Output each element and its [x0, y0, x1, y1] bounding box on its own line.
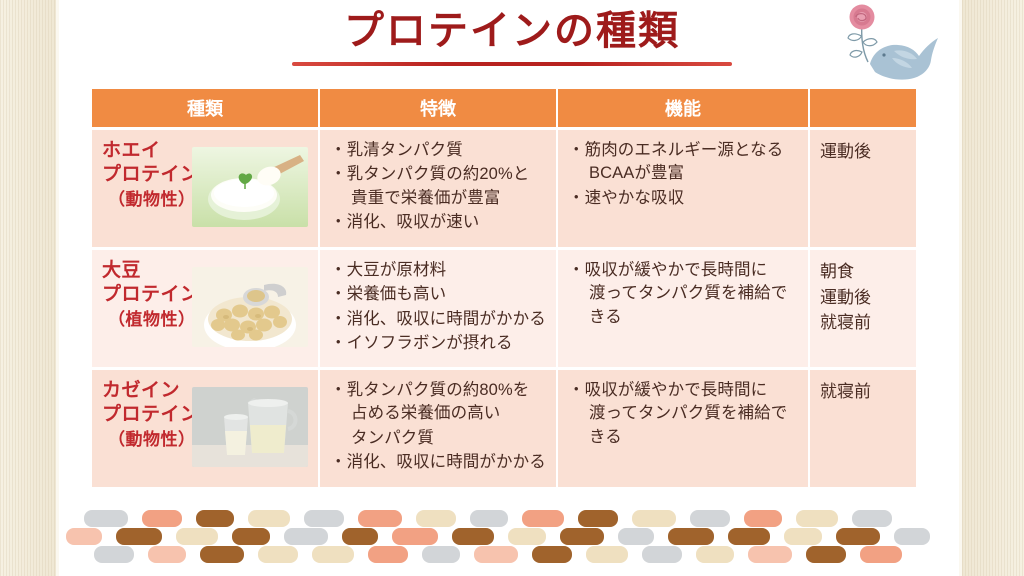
milk-pitcher-photo: [192, 387, 308, 467]
decorative-pill: [852, 510, 892, 527]
decorative-pill: [474, 546, 518, 563]
list-item: ・栄養価も高い: [330, 283, 548, 306]
decorative-pill: [196, 510, 234, 527]
decorative-pill: [232, 528, 270, 545]
decorative-pill: [116, 528, 162, 545]
list-item: ・乳清タンパク質: [330, 139, 548, 162]
decorative-pill: [586, 546, 628, 563]
list-item: ・消化、吸収が速い: [330, 211, 548, 234]
decorative-pill: [416, 510, 456, 527]
feature-text: ・消化、吸収に時間がかかる: [330, 453, 546, 471]
decorative-pill: [560, 528, 604, 545]
yogurt-bowl-photo: [192, 147, 308, 227]
cell-functions: ・筋肉のエネルギー源となるBCAAが豊富 ・速やかな吸収: [558, 127, 810, 247]
decorative-pill: [748, 546, 792, 563]
decorative-pill: [358, 510, 402, 527]
decorative-pill: [668, 528, 714, 545]
right-border-texture: [962, 0, 1024, 576]
table-header-row: 種類 特徴 機能: [92, 89, 916, 127]
decorative-pill: [248, 510, 290, 527]
cell-type: カゼイン プロテイン （動物性）: [92, 367, 320, 487]
decorative-pill: [470, 510, 508, 527]
list-item: ・消化、吸収に時間がかかる: [330, 451, 548, 474]
cell-features: ・大豆が原材料 ・栄養価も高い ・消化、吸収に時間がかかる ・イソフラボンが摂れ…: [320, 247, 558, 367]
page-title: プロテインの種類: [276, 6, 748, 56]
decorative-pill: [258, 546, 298, 563]
decorative-pill: [304, 510, 344, 527]
decorative-pill: [368, 546, 408, 563]
decorative-pill: [642, 546, 682, 563]
feature-text: ・乳清タンパク質: [330, 141, 463, 159]
decorative-pill: [148, 546, 186, 563]
decorative-pill: [690, 510, 730, 527]
feature-text: タンパク質: [351, 429, 434, 447]
decorative-pill: [836, 528, 880, 545]
feature-text-cont: 占める栄養価の高い: [341, 402, 548, 425]
timing-item: 就寝前: [820, 379, 908, 405]
table-row: ホエイ プロテイン （動物性）: [92, 127, 916, 247]
timing-item: 朝食: [820, 259, 908, 285]
function-text: ・筋肉のエネルギー源となる: [568, 141, 783, 159]
decorative-pill: [796, 510, 838, 527]
timing-item: 運動後: [820, 139, 908, 165]
slide-canvas: プロテインの種類 種類 特徴 機能: [0, 0, 1024, 576]
decorative-pill: [522, 510, 564, 527]
decorative-pill: [94, 546, 134, 563]
cell-timing: 運動後: [810, 127, 916, 247]
decorative-pill: [392, 528, 438, 545]
timing-item: 就寝前: [820, 310, 908, 336]
decorative-pill: [422, 546, 460, 563]
column-header-type: 種類: [92, 89, 320, 127]
title-underline: [292, 62, 732, 66]
decorative-pill: [894, 528, 930, 545]
list-item: タンパク質: [330, 427, 548, 450]
feature-text: ・消化、吸収に時間がかかる: [330, 310, 546, 328]
decorative-pill: [66, 528, 102, 545]
column-header-timing: [810, 89, 916, 127]
feature-text: ・イソフラボンが摂れる: [330, 334, 513, 352]
cell-functions: ・吸収が緩やかで長時間に渡ってタンパク質を補給できる: [558, 367, 810, 487]
decorative-pill: [200, 546, 244, 563]
protein-name-line1: ホエイ: [102, 140, 161, 161]
cell-timing: 就寝前: [810, 367, 916, 487]
right-border-highlight: [959, 0, 962, 576]
decorative-pill: [632, 510, 676, 527]
function-text: ・吸収が緩やかで長時間に: [568, 381, 767, 399]
left-border-texture: [0, 0, 56, 576]
protein-name-line1: カゼイン: [102, 380, 180, 401]
list-item: ・吸収が緩やかで長時間に渡ってタンパク質を補給できる: [568, 259, 800, 329]
decorative-pill: [806, 546, 846, 563]
soybeans-bowl-photo: [192, 267, 308, 347]
function-text-cont: BCAAが豊富: [579, 162, 800, 185]
column-header-function: 機能: [558, 89, 810, 127]
function-text: ・速やかな吸収: [568, 189, 684, 207]
decorative-pill: [176, 528, 218, 545]
cell-timing: 朝食 運動後 就寝前: [810, 247, 916, 367]
decorative-pill: [696, 546, 734, 563]
cell-functions: ・吸収が緩やかで長時間に渡ってタンパク質を補給できる: [558, 247, 810, 367]
decorative-pill: [284, 528, 328, 545]
cell-features: ・乳清タンパク質 ・乳タンパク質の約20%と貴重で栄養価が豊富 ・消化、吸収が速…: [320, 127, 558, 247]
list-item: ・大豆が原材料: [330, 259, 548, 282]
function-text-cont: 渡ってタンパク質を補給できる: [579, 402, 800, 449]
table-row: カゼイン プロテイン （動物性）: [92, 367, 916, 487]
feature-text: ・消化、吸収が速い: [330, 213, 479, 231]
cell-type: ホエイ プロテイン （動物性）: [92, 127, 320, 247]
decorative-pill: [508, 528, 546, 545]
feature-text: ・乳タンパク質の約80%を: [330, 381, 529, 399]
function-text: ・吸収が緩やかで長時間に: [568, 261, 767, 279]
cell-features: ・乳タンパク質の約80%を占める栄養価の高い タンパク質 ・消化、吸収に時間がか…: [320, 367, 558, 487]
feature-text-cont: 貴重で栄養価が豊富: [341, 187, 548, 210]
protein-name-line1: 大豆: [102, 260, 141, 281]
list-item: ・吸収が緩やかで長時間に渡ってタンパク質を補給できる: [568, 379, 800, 449]
decorative-pill: [728, 528, 770, 545]
feature-text: ・栄養価も高い: [330, 285, 446, 303]
list-item: ・消化、吸収に時間がかかる: [330, 308, 548, 331]
decorative-pill: [618, 528, 654, 545]
decorative-pill: [84, 510, 128, 527]
decorative-pill: [142, 510, 182, 527]
list-item: ・速やかな吸収: [568, 187, 800, 210]
column-header-feature: 特徴: [320, 89, 558, 127]
title-block: プロテインの種類: [276, 6, 748, 66]
decorative-pill: [342, 528, 378, 545]
decorative-pill: [452, 528, 494, 545]
list-item: ・乳タンパク質の約80%を占める栄養価の高い: [330, 379, 548, 426]
decorative-pill: [532, 546, 572, 563]
list-item: ・イソフラボンが摂れる: [330, 332, 548, 355]
table-row: 大豆 プロテイン （植物性）: [92, 247, 916, 367]
decorative-pill: [784, 528, 822, 545]
feature-text: ・乳タンパク質の約20%と: [330, 165, 529, 183]
pill-pattern-band: [84, 506, 940, 568]
feature-text: ・大豆が原材料: [330, 261, 446, 279]
cell-type: 大豆 プロテイン （植物性）: [92, 247, 320, 367]
function-text-cont: 渡ってタンパク質を補給できる: [579, 282, 800, 329]
dove-with-rose-icon: [818, 2, 944, 88]
decorative-pill: [312, 546, 354, 563]
decorative-pill: [578, 510, 618, 527]
protein-types-table: 種類 特徴 機能 ホエイ プロテイン （動物性）: [92, 89, 916, 487]
list-item: ・筋肉のエネルギー源となるBCAAが豊富: [568, 139, 800, 186]
list-item: ・乳タンパク質の約20%と貴重で栄養価が豊富: [330, 163, 548, 210]
decorative-pill: [744, 510, 782, 527]
decorative-pill: [860, 546, 902, 563]
timing-item: 運動後: [820, 285, 908, 311]
left-border-highlight: [56, 0, 59, 576]
